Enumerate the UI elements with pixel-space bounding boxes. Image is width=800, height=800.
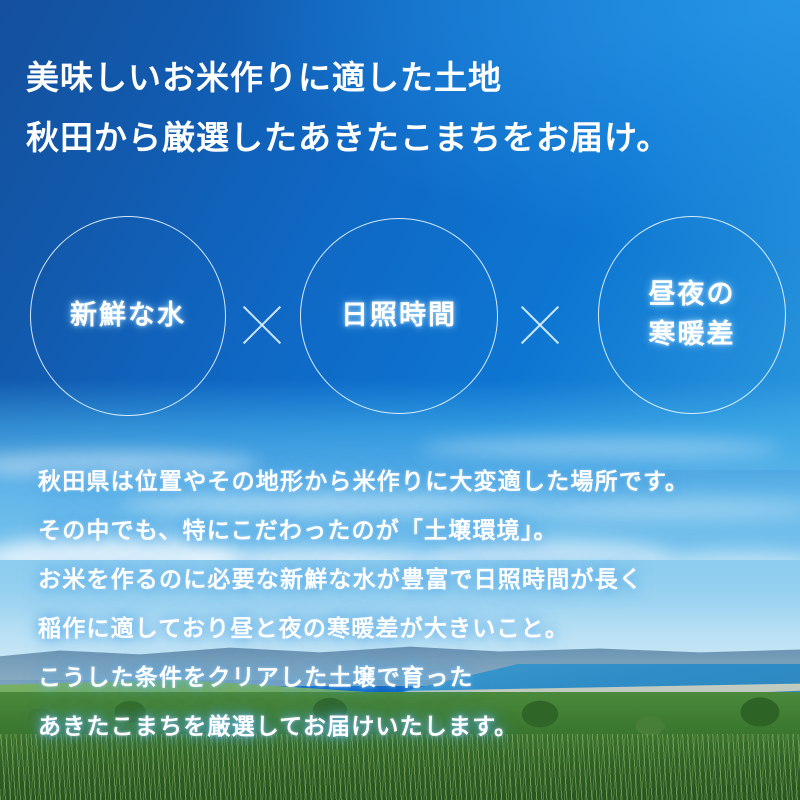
factor-circle-temperature-range: 昼夜の寒暖差 [598,216,786,414]
factor-label-sunshine-hours: 日照時間 [341,296,457,336]
factor-label-fresh-water: 新鮮な水 [70,296,186,336]
body-line-6: あきたこまちを厳選してお届けいたします。 [38,707,778,756]
headline-line-1: 美味しいお米作りに適した土地 [26,48,776,108]
factor-label-line-1: 昼夜の [649,279,736,310]
factor-label-temperature-range: 昼夜の寒暖差 [649,275,736,355]
body-line-1: 秋田県は位置やその地形から米作りに大変適した場所です。 [38,462,778,511]
cloud-wisp [420,438,780,458]
promo-banner: 美味しいお米作りに適した土地 秋田から厳選したあきたこまちをお届け。 新鮮な水 … [0,0,800,800]
body-line-5: こうした条件をクリアした土壌で育った [38,658,778,707]
body-copy: 秋田県は位置やその地形から米作りに大変適した場所です。 その中でも、特にこだわっ… [38,462,778,756]
body-line-2: その中でも、特にこだわったのが「土壌環境」。 [38,511,778,560]
headline-line-2: 秋田から厳選したあきたこまちをお届け。 [26,108,776,168]
multiply-icon [514,299,566,351]
factor-label-line-2: 寒暖差 [649,319,736,350]
multiply-icon [236,299,288,351]
page-title: 美味しいお米作りに適した土地 秋田から厳選したあきたこまちをお届け。 [26,48,776,168]
body-line-4: 稲作に適しており昼と夜の寒暖差が大きいこと。 [38,609,778,658]
body-line-3: お米を作るのに必要な新鮮な水が豊富で日照時間が長く [38,560,778,609]
factor-circle-sunshine-hours: 日照時間 [300,218,498,414]
factor-circle-fresh-water: 新鮮な水 [30,216,226,416]
